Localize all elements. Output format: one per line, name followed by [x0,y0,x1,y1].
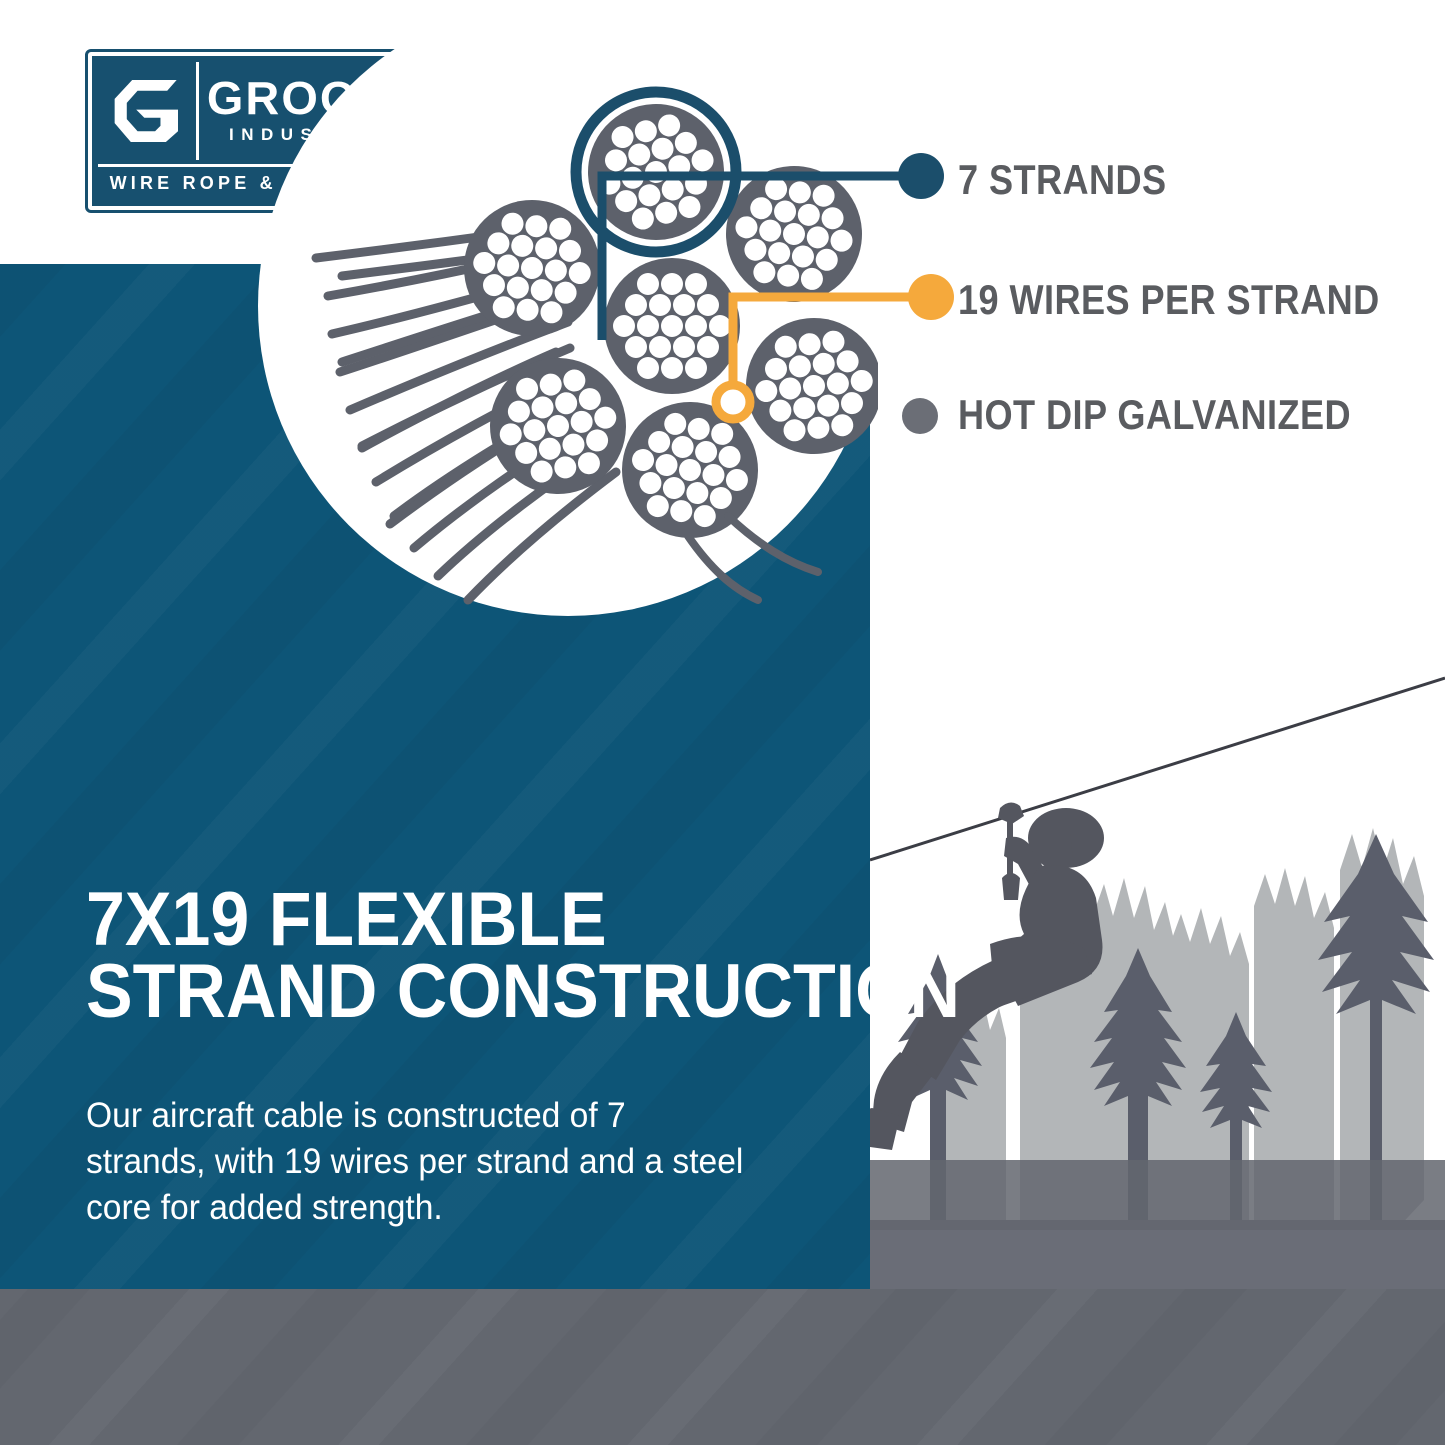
headline-line-1: 7X19 FLEXIBLE [86,884,960,956]
callout-label-wires: 19 WIRES PER STRAND [958,276,1380,324]
callout-dot-strands [898,153,944,199]
infographic-canvas: GROOVE INDUSTRIAL WIRE ROPE & RIGGING [0,0,1445,1445]
body-paragraph: Our aircraft cable is constructed of 7 s… [86,1093,748,1232]
callout-label-strands: 7 STRANDS [958,156,1167,204]
page-title: 7X19 FLEXIBLE STRAND CONSTRUCTION [86,884,960,1028]
callout-label-galvanized: HOT DIP GALVANIZED [958,391,1351,439]
callout-dot-galvanized [902,398,938,434]
headline-line-2: STRAND CONSTRUCTION [86,956,960,1028]
callout-dot-wires [908,274,954,320]
amber-ring-marker [716,385,750,419]
bottom-gray-band [0,1289,1445,1445]
